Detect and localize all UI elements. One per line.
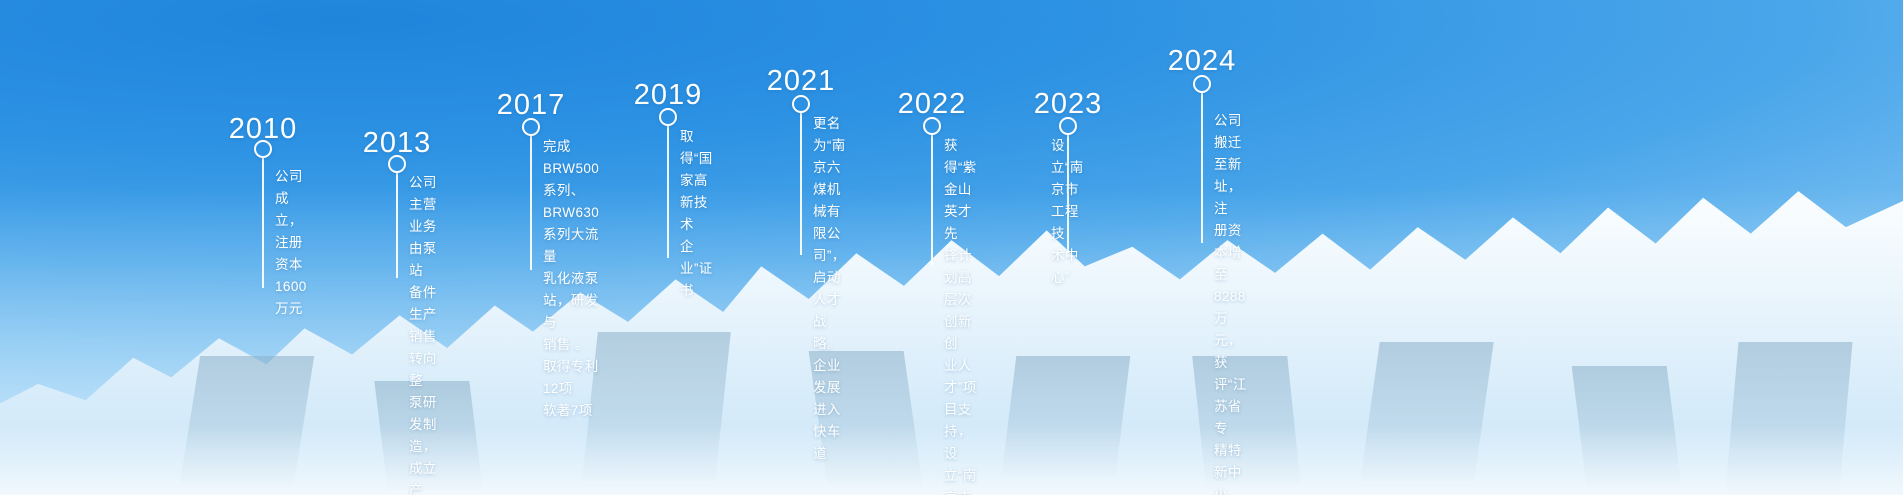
milestone-year-label: 2021 <box>767 65 836 98</box>
milestone-node-circle-icon[interactable] <box>659 108 677 126</box>
milestone-node-circle-icon[interactable] <box>1059 117 1077 135</box>
milestone-description: 公司搬迁至新址，注 册资本增至8288万 元，获评“江苏省专 精特新中小 企业” <box>1214 110 1247 495</box>
milestone-description: 完成BRW500系列、 BRW630系列大流量 乳化液泵站，研发与 销售 。取得… <box>543 136 599 422</box>
milestone-connector-line <box>1201 93 1203 243</box>
milestone-connector-line <box>396 173 398 278</box>
milestone-connector-line <box>530 136 532 270</box>
milestone-node-circle-icon[interactable] <box>522 118 540 136</box>
milestone-description: 公司主营业务由泵站 备件生产销售转向整 泵研发制造，成立产 品研发中心.公司注册… <box>409 172 441 495</box>
company-history-timeline: 2010公司成立，注册资本 1600万元2013公司主营业务由泵站 备件生产销售… <box>0 0 1903 495</box>
milestone-node-circle-icon[interactable] <box>1193 75 1211 93</box>
milestone-node-circle-icon[interactable] <box>254 140 272 158</box>
milestone-year-label: 2024 <box>1168 45 1237 78</box>
milestone-description: 取得“国家高新技术 企业”证书 <box>680 126 713 302</box>
milestone-node-circle-icon[interactable] <box>388 155 406 173</box>
milestone-node-circle-icon[interactable] <box>923 117 941 135</box>
milestone-description: 获得“紫金山英才先 锋计划高层次创新创 业人才”项目支持， 设立“南京市企业专 … <box>944 135 977 495</box>
milestone-connector-line <box>800 113 802 255</box>
milestone-connector-line <box>262 158 264 288</box>
milestone-connector-line <box>667 126 669 258</box>
milestone-description: 更名为“南京六煤机 械有限公司”，启动 人才战略。企业发展 进入快车道 <box>813 113 846 465</box>
milestone-node-circle-icon[interactable] <box>792 95 810 113</box>
milestone-description: 设立“南京市工程技 术中心” <box>1051 135 1084 289</box>
milestone-description: 公司成立，注册资本 1600万元 <box>275 166 307 320</box>
milestone-connector-line <box>931 135 933 265</box>
